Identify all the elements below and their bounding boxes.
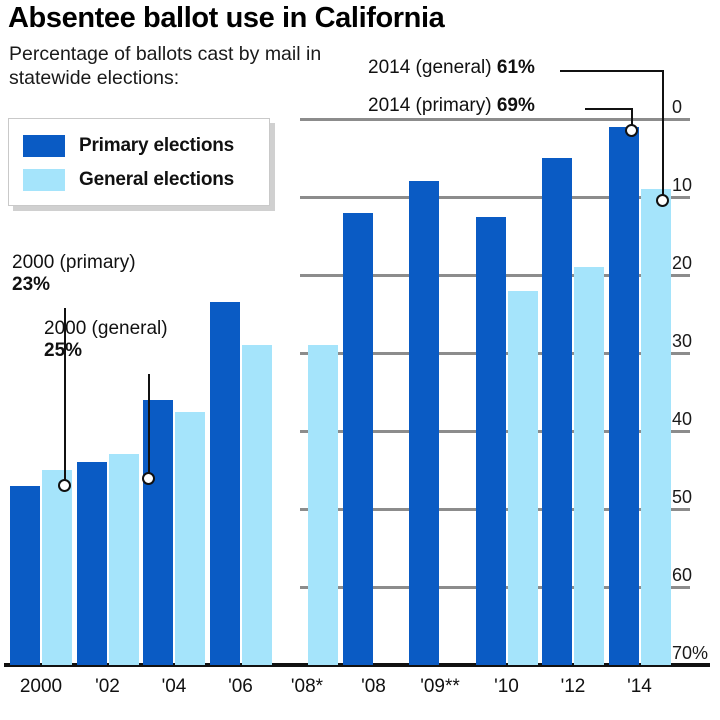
bar-primary-12[interactable] — [542, 158, 572, 665]
bar-primary-06[interactable] — [210, 302, 240, 665]
bar-general-02[interactable] — [109, 454, 139, 665]
y-axis-tick-0: 70% — [672, 643, 708, 664]
callout-2014-primary: 2014 (primary) 69% — [368, 95, 535, 117]
y-axis-tick-40: 30 — [672, 331, 692, 352]
bar-primary-09[interactable] — [409, 181, 439, 665]
bar-general-08[interactable] — [308, 345, 338, 665]
bar-general-10[interactable] — [508, 291, 538, 665]
x-axis-tick-9: '14 — [609, 676, 671, 698]
callout-2000-primary-value: 23% — [12, 274, 50, 295]
callout-dot-2000-primary — [58, 479, 71, 492]
callout-2014-primary-value: 69% — [497, 95, 535, 116]
callout-2014-general-value: 61% — [497, 57, 535, 78]
leader-line-2000-general — [148, 374, 150, 473]
callout-2000-primary-label: 2000 (primary) — [12, 252, 136, 273]
leader-line-2014-primary-h — [585, 108, 633, 110]
callout-2014-general-label: 2014 (general) — [368, 57, 492, 78]
bar-general-2000[interactable] — [42, 470, 72, 665]
bar-primary-10[interactable] — [476, 217, 506, 666]
bar-primary-08[interactable] — [343, 213, 373, 665]
bar-general-14[interactable] — [641, 189, 671, 665]
callout-2000-general: 2000 (general) 25% — [44, 318, 168, 362]
y-axis-tick-70: 0 — [672, 97, 682, 118]
callout-2014-primary-label: 2014 (primary) — [368, 95, 492, 116]
bar-general-04[interactable] — [175, 412, 205, 666]
callout-2000-general-label: 2000 (general) — [44, 318, 168, 339]
bar-general-12[interactable] — [574, 267, 604, 665]
y-axis-tick-30: 40 — [672, 409, 692, 430]
y-axis-tick-50: 20 — [672, 253, 692, 274]
callout-dot-2000-general — [142, 472, 155, 485]
x-axis-tick-2: '04 — [143, 676, 205, 698]
bar-primary-2000[interactable] — [10, 486, 40, 665]
callout-2000-general-value: 25% — [44, 340, 82, 361]
x-axis-tick-6: '09** — [409, 676, 471, 698]
x-axis-tick-8: '12 — [542, 676, 604, 698]
leader-line-2014-general-v — [662, 70, 664, 195]
x-axis-tick-4: '08* — [276, 676, 338, 698]
callout-2000-primary: 2000 (primary) 23% — [12, 252, 136, 296]
x-axis-tick-0: 2000 — [10, 676, 72, 698]
callout-dot-2014-primary — [625, 124, 638, 137]
x-axis-tick-3: '06 — [210, 676, 272, 698]
y-axis-tick-20: 50 — [672, 487, 692, 508]
callout-2014-general: 2014 (general) 61% — [368, 57, 535, 79]
leader-line-2014-general-h — [560, 70, 664, 72]
y-axis-tick-10: 60 — [672, 565, 692, 586]
x-axis-tick-1: '02 — [77, 676, 139, 698]
x-axis-tick-5: '08 — [343, 676, 405, 698]
y-axis-tick-60: 10 — [672, 175, 692, 196]
chart-root: Absentee ballot use in California Percen… — [0, 0, 720, 720]
callout-dot-2014-general — [656, 194, 669, 207]
x-axis-tick-7: '10 — [476, 676, 538, 698]
bar-primary-02[interactable] — [77, 462, 107, 665]
bar-general-06[interactable] — [242, 345, 272, 665]
bar-primary-14[interactable] — [609, 127, 639, 665]
